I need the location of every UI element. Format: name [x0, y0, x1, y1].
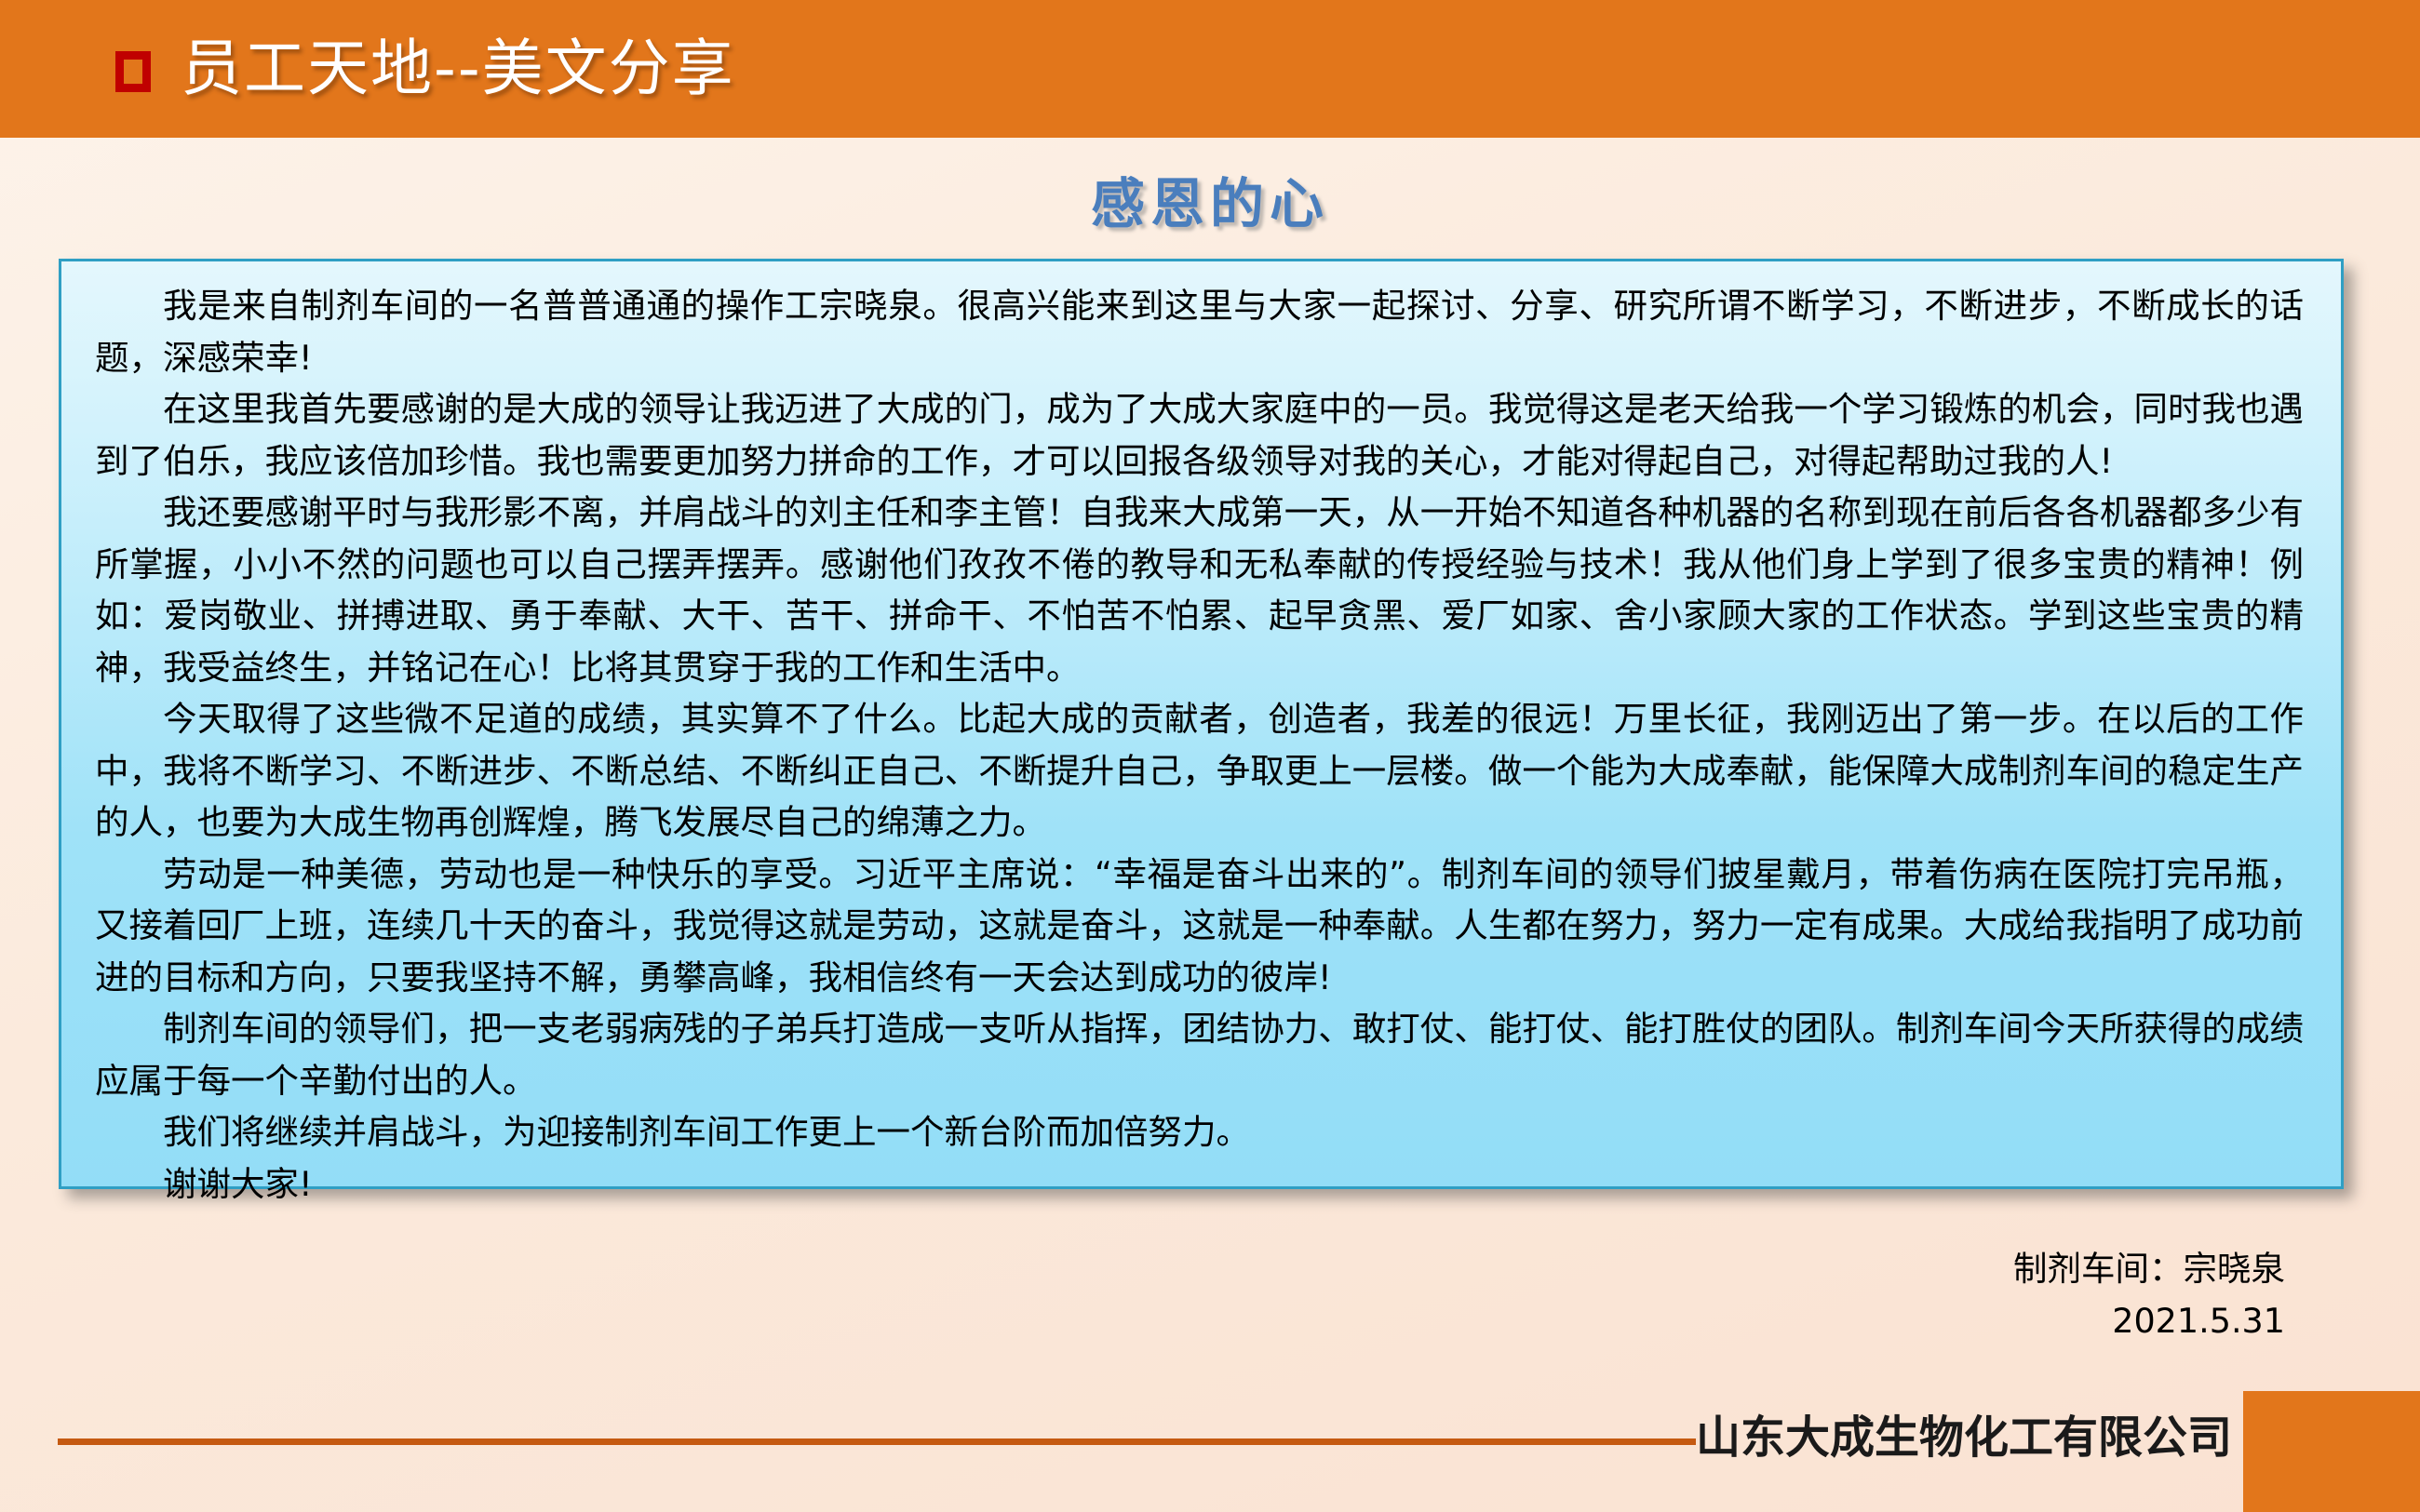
red-square-bullet-icon: [115, 51, 151, 92]
essay-body: 我是来自制剂车间的一名普普通通的操作工宗晓泉。很高兴能来到这里与大家一起探讨、分…: [95, 280, 2304, 1210]
essay-paragraph: 在这里我首先要感谢的是大成的领导让我迈进了大成的门，成为了大成大家庭中的一员。我…: [95, 383, 2304, 487]
essay-paragraph: 我是来自制剂车间的一名普普通通的操作工宗晓泉。很高兴能来到这里与大家一起探讨、分…: [95, 280, 2304, 383]
slide-root: 员工天地--美文分享 感恩的心 我是来自制剂车间的一名普普通通的操作工宗晓泉。很…: [0, 0, 2420, 1512]
header-title: 员工天地--美文分享: [181, 38, 735, 100]
essay-paragraph: 谢谢大家!: [95, 1158, 2304, 1211]
signature-block: 制剂车间：宗晓泉 2021.5.31: [95, 1243, 2304, 1347]
signature-author: 制剂车间：宗晓泉: [95, 1243, 2304, 1295]
essay-paragraph: 劳动是一种美德，劳动也是一种快乐的享受。习近平主席说：“幸福是奋斗出来的”。制剂…: [95, 849, 2304, 1004]
essay-paragraph: 我们将继续并肩战斗，为迎接制剂车间工作更上一个新台阶而加倍努力。: [95, 1106, 2304, 1158]
page-title: 感恩的心: [0, 160, 2420, 238]
essay-paragraph: 制剂车间的领导们，把一支老弱病残的子弟兵打造成一支听从指挥，团结协力、敢打仗、能…: [95, 1003, 2304, 1106]
signature-date: 2021.5.31: [95, 1295, 2304, 1347]
footer-accent-square: [2243, 1391, 2420, 1512]
essay-panel: 我是来自制剂车间的一名普普通通的操作工宗晓泉。很高兴能来到这里与大家一起探讨、分…: [59, 259, 2344, 1189]
footer-divider: [58, 1438, 1696, 1445]
essay-paragraph: 我还要感谢平时与我形影不离，并肩战斗的刘主任和李主管！自我来大成第一天，从一开始…: [95, 487, 2304, 693]
header-band: 员工天地--美文分享: [0, 0, 2420, 138]
footer-company-name: 山东大成生物化工有限公司: [1696, 1400, 2232, 1465]
essay-paragraph: 今天取得了这些微不足道的成绩，其实算不了什么。比起大成的贡献者，创造者，我差的很…: [95, 693, 2304, 849]
